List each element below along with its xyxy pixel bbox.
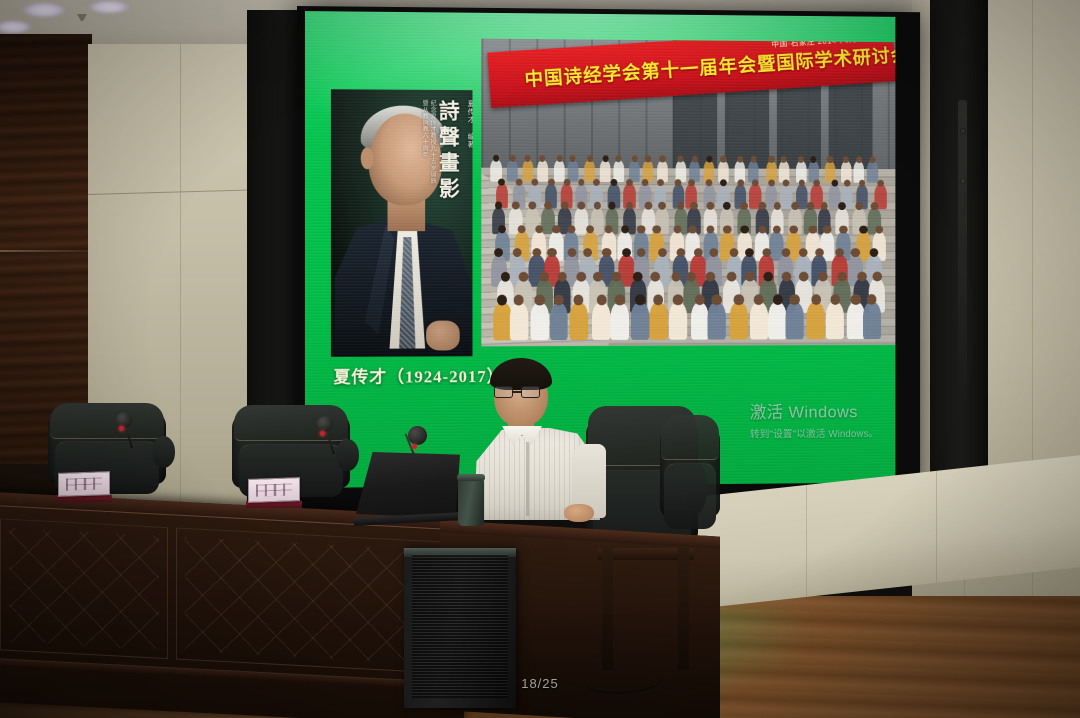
lecture-hall-scene: 夏傳才 夏传才 编著 詩聲畫影 纪念夏传才教授九十五岁诞辰 暨从教执教六十周年 … xyxy=(0,0,1080,718)
thermos-cup[interactable] xyxy=(458,478,484,526)
downlight-icon xyxy=(88,0,130,14)
presenter xyxy=(468,358,608,518)
wall-seam xyxy=(0,250,92,252)
page-indicator: 18/25 xyxy=(0,676,1080,691)
column-speaker-strip xyxy=(958,100,967,400)
name-placard xyxy=(248,477,300,503)
glasses-icon xyxy=(494,386,544,398)
placard-text xyxy=(66,477,102,491)
placard-text xyxy=(256,483,292,497)
column-indicator-icon xyxy=(960,128,966,134)
laptop[interactable] xyxy=(356,452,460,518)
downlight-icon xyxy=(22,2,66,18)
chair-legs xyxy=(598,548,694,670)
gooseneck-microphone[interactable] xyxy=(320,418,346,454)
gooseneck-microphone[interactable] xyxy=(118,414,144,448)
column-indicator-icon xyxy=(960,178,966,184)
name-placard xyxy=(58,471,110,497)
